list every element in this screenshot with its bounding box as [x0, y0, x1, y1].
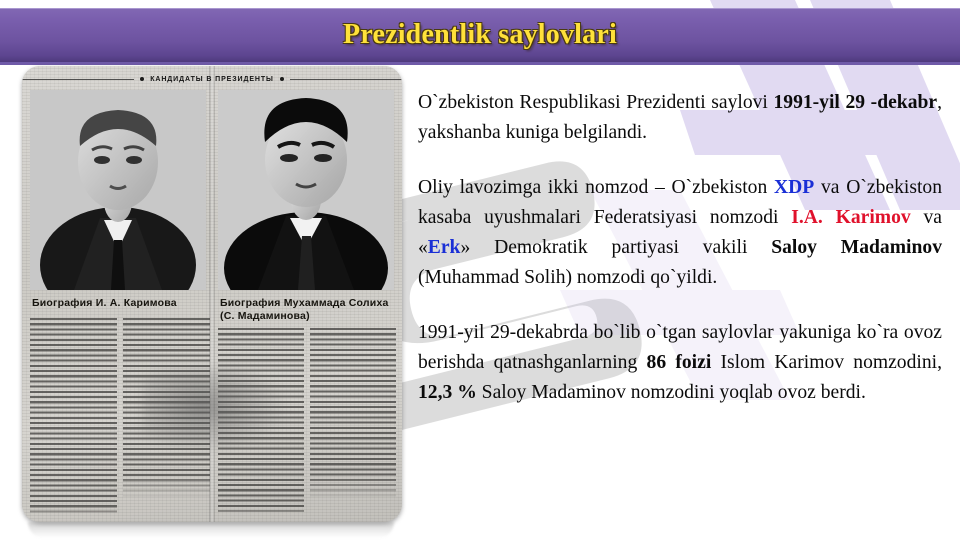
clipping-reflection: [28, 522, 394, 538]
headline-dot-right: [280, 77, 284, 81]
p2-party-xdp: XDP: [774, 177, 814, 198]
p2-text-1: Oliy lavozimga ikki nomzod – O`zbekiston: [418, 177, 774, 198]
p3-text-2: Islom Karimov nomzodini,: [711, 352, 942, 373]
slide-title-bar: Prezidentlik saylovlari: [0, 8, 960, 62]
paragraph-3: 1991-yil 29-dekabrda bo`lib o`tgan saylo…: [418, 318, 942, 408]
paragraph-1: O`zbekiston Respublikasi Prezidenti sayl…: [418, 88, 942, 148]
slide-body-text: O`zbekiston Respublikasi Prezidenti sayl…: [418, 88, 942, 408]
p3-text-3: Saloy Madaminov nomzodini yoqlab ovoz be…: [477, 382, 866, 403]
portrait-photo-madaminov: [218, 90, 394, 290]
newspaper-column: [30, 318, 117, 514]
headline-rule-left: [22, 79, 134, 80]
p2-text-4: » Demokratik partiyasi vakili: [460, 237, 771, 258]
photo-caption-right: Биография Мухаммада Солиха (С. Мадаминов…: [220, 297, 396, 323]
headline-dot-left: [140, 77, 144, 81]
paper-smudge: [142, 366, 292, 456]
p2-party-erk: Erk: [428, 237, 461, 258]
photo-caption-left: Биография И. А. Каримова: [32, 297, 212, 310]
newspaper-clipping-image: КАНДИДАТЫ В ПРЕЗИДЕНТЫ: [22, 66, 402, 522]
paragraph-2: Oliy lavozimga ikki nomzod – O`zbekiston…: [418, 173, 942, 293]
p3-percent-karimov: 86 foizi: [647, 352, 712, 373]
p2-candidate-karimov: I.A. Karimov: [791, 207, 910, 228]
page-title: Prezidentlik saylovlari: [343, 19, 617, 51]
slide-canvas: Prezidentlik saylovlari КАНДИДАТЫ В ПРЕЗ…: [0, 0, 960, 540]
newspaper-headline-text: КАНДИДАТЫ В ПРЕЗИДЕНТЫ: [150, 76, 274, 83]
p2-candidate-madaminov: Saloy Madaminov: [771, 237, 942, 258]
p1-bold-date: 1991-yil 29 -dekabr: [773, 92, 937, 113]
newspaper-headline-band: КАНДИДАТЫ В ПРЕЗИДЕНТЫ: [22, 72, 402, 86]
p3-percent-madaminov: 12,3 %: [418, 382, 477, 403]
portrait-photo-karimov: [30, 90, 206, 290]
p2-text-5: (Muhammad Solih) nomzodi qo`yildi.: [418, 267, 717, 288]
headline-rule-right: [290, 79, 402, 80]
newspaper-column: [310, 328, 396, 514]
p1-text-1: O`zbekiston Respublikasi Prezidenti sayl…: [418, 92, 773, 113]
